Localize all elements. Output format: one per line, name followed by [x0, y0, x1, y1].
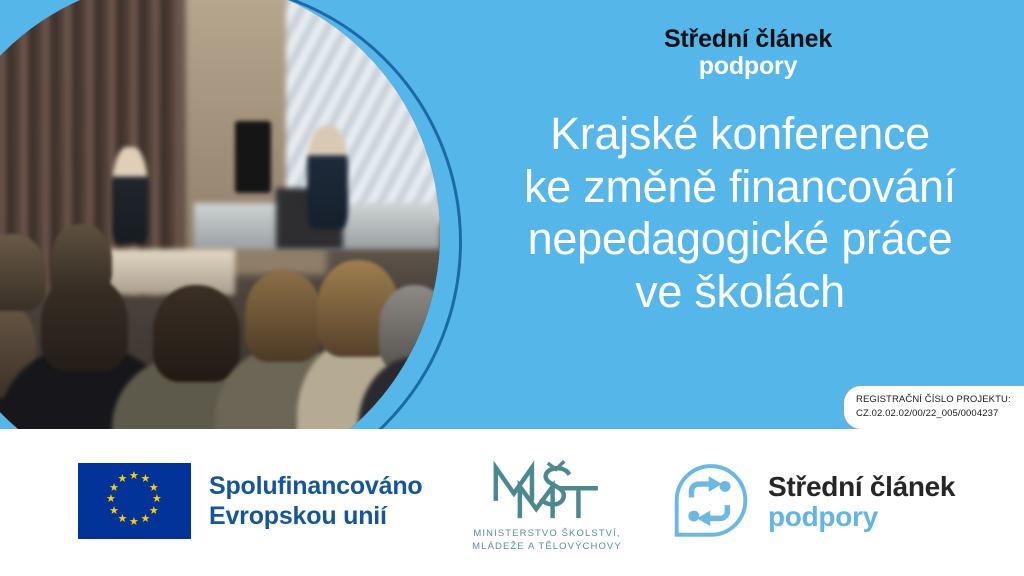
- page-title-line1: Krajské konference: [470, 108, 1010, 161]
- hero-banner: Střední článek podpory Krajské konferenc…: [0, 0, 1024, 429]
- photo-panelist: [112, 147, 148, 244]
- page-title-line2: ke změně financování: [470, 161, 1010, 214]
- project-registration-number: REGISTRAČNÍ ČÍSLO PROJEKTU: CZ.02.02.02/…: [843, 385, 1024, 429]
- photo-presenter: [307, 126, 348, 228]
- poster-canvas: Střední článek podpory Krajské konferenc…: [0, 0, 1024, 576]
- photo-audience-head: [51, 224, 112, 296]
- ministry-logo: MINISTERSTVO ŠKOLSTVÍ, MLÁDEŽE A TĚLOVÝC…: [452, 459, 642, 554]
- conference-photo: [0, 0, 440, 429]
- scp-logo-line2: podpory: [768, 502, 955, 532]
- footer-logo-bar: Spolufinancováno Evropskou unií: [0, 429, 1024, 576]
- photo-loudspeaker: [235, 121, 271, 193]
- scp-logo-line1: Střední článek: [768, 472, 955, 502]
- registration-label: REGISTRAČNÍ ČÍSLO PROJEKTU:: [856, 393, 1024, 407]
- photo-audience-head: [245, 270, 322, 362]
- page-title: Krajské konference ke změně financování …: [470, 108, 1010, 319]
- eu-cofunding-logo: Spolufinancováno Evropskou unií: [78, 463, 422, 539]
- speech-bubble-arrows-icon: [672, 463, 750, 541]
- page-title-line3: nepedagogické práce: [470, 213, 1010, 266]
- brand-logo-top-line2: podpory: [558, 53, 938, 80]
- eu-flag-icon: [78, 463, 191, 539]
- eu-logo-line1: Spolufinancováno: [209, 471, 422, 501]
- page-title-line4: ve školách: [470, 266, 1010, 319]
- eu-logo-line2: Evropskou unií: [209, 501, 422, 531]
- ministry-name-line1: MINISTERSTVO ŠKOLSTVÍ,: [452, 528, 642, 541]
- msmt-monogram-icon: [482, 459, 611, 521]
- ministry-name-line2: MLÁDEŽE A TĚLOVÝCHOVY: [452, 541, 642, 554]
- brand-logo-top: Střední článek podpory: [558, 26, 938, 80]
- registration-value: CZ.02.02.02/00/22_005/0004237: [856, 407, 1024, 421]
- ministry-name: MINISTERSTVO ŠKOLSTVÍ, MLÁDEŽE A TĚLOVÝC…: [452, 528, 642, 554]
- scp-logo-text: Střední článek podpory: [768, 472, 955, 532]
- photo-scene: [0, 0, 440, 429]
- brand-logo-top-line1: Střední článek: [558, 26, 938, 53]
- eu-logo-text: Spolufinancováno Evropskou unií: [209, 471, 422, 531]
- scp-logo: Střední článek podpory: [672, 463, 955, 541]
- photo-audience-head: [153, 285, 240, 382]
